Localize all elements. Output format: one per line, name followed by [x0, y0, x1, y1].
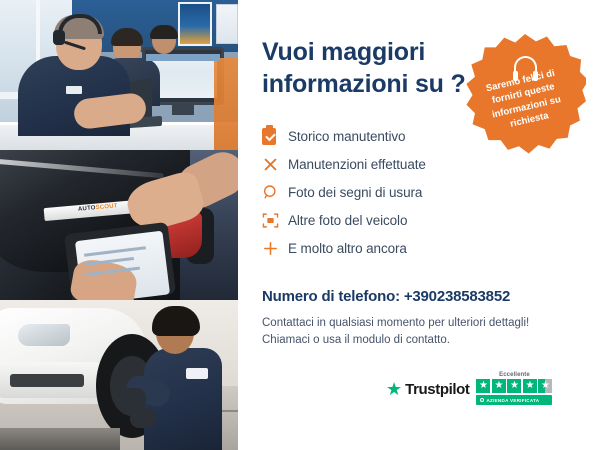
camera-frame-icon: [262, 212, 288, 229]
star-icon: ★: [523, 379, 537, 393]
contact-description: Contattaci in qualsiasi momento per ulte…: [262, 315, 582, 350]
rating-stars: ★ ★ ★ ★ ★: [476, 379, 552, 393]
magnifier-icon: [262, 184, 288, 201]
background-agent-hair: [150, 25, 178, 39]
star-half-icon: ★: [538, 379, 552, 393]
feature-label: Foto dei segni di usura: [288, 185, 422, 200]
feature-label: Storico manutentivo: [288, 129, 405, 144]
list-item: E molto altro ancora: [262, 234, 582, 262]
star-icon: ★: [492, 379, 506, 393]
feature-label: Altre foto del veicolo: [288, 213, 407, 228]
monitor-toolbar: [146, 54, 220, 61]
wall-poster: [178, 2, 212, 46]
monitor-stand: [172, 105, 194, 115]
star-icon: ★: [476, 379, 490, 393]
mechanic-uniform-logo: [186, 368, 208, 379]
phone-number: Numero di telefono: +390238583852: [262, 288, 582, 305]
mechanic-wheel-inspection-photo: [0, 300, 238, 450]
second-agent-hair: [111, 28, 143, 46]
callout-badge: Saremo felici di fornirti queste informa…: [464, 34, 586, 156]
trustpilot-star-icon: ★: [386, 380, 402, 398]
contact-line-1: Contattaci in qualsiasi momento per ulte…: [262, 317, 529, 329]
mechanic-glove-lower: [130, 408, 156, 428]
wall-poster-secondary: [216, 4, 238, 44]
trustpilot-rating: Eccellente ★ ★ ★ ★ ★ AZIENDA VERIFICATA: [476, 372, 552, 405]
vehicle-lift: [0, 428, 120, 450]
trustpilot-logo[interactable]: ★ Trustpilot: [386, 380, 469, 398]
verified-label: AZIENDA VERIFICATA: [486, 398, 539, 403]
rating-label: Eccellente: [476, 372, 552, 378]
star-icon: ★: [507, 379, 521, 393]
verified-check-icon: [480, 398, 484, 402]
page-title: Vuoi maggiori informazioni su ?: [262, 36, 467, 100]
clipboard-check-icon: [262, 128, 288, 145]
promo-page: AUTOSCOUT: [0, 0, 600, 450]
verified-badge: AZIENDA VERIFICATA: [476, 395, 552, 405]
plus-icon: [262, 240, 288, 257]
feature-label: E molto altro ancora: [288, 241, 407, 256]
trustpilot-wordmark: Trustpilot: [405, 381, 469, 398]
trustpilot-widget[interactable]: ★ Trustpilot Eccellente ★ ★ ★ ★ ★ AZIEND…: [386, 372, 552, 405]
agent-name-badge: [66, 86, 82, 94]
mechanic-hair: [152, 306, 200, 336]
photo-column: AUTOSCOUT: [0, 0, 238, 450]
car-headlight: [18, 324, 70, 346]
contact-line-2: Chiamaci o usa il modulo di contatto.: [262, 334, 450, 346]
list-item: Altre foto del veicolo: [262, 206, 582, 234]
car-body-inspection-photo: AUTOSCOUT: [0, 150, 238, 300]
feature-label: Manutenzioni effettuate: [288, 157, 426, 172]
mechanic-glove-upper: [118, 388, 146, 410]
orange-foreground-object: [214, 58, 238, 150]
call-center-agents-photo: [0, 0, 238, 150]
crossed-wrenches-icon: [262, 156, 288, 173]
list-item: Foto dei segni di usura: [262, 178, 582, 206]
car-grille: [10, 374, 84, 387]
